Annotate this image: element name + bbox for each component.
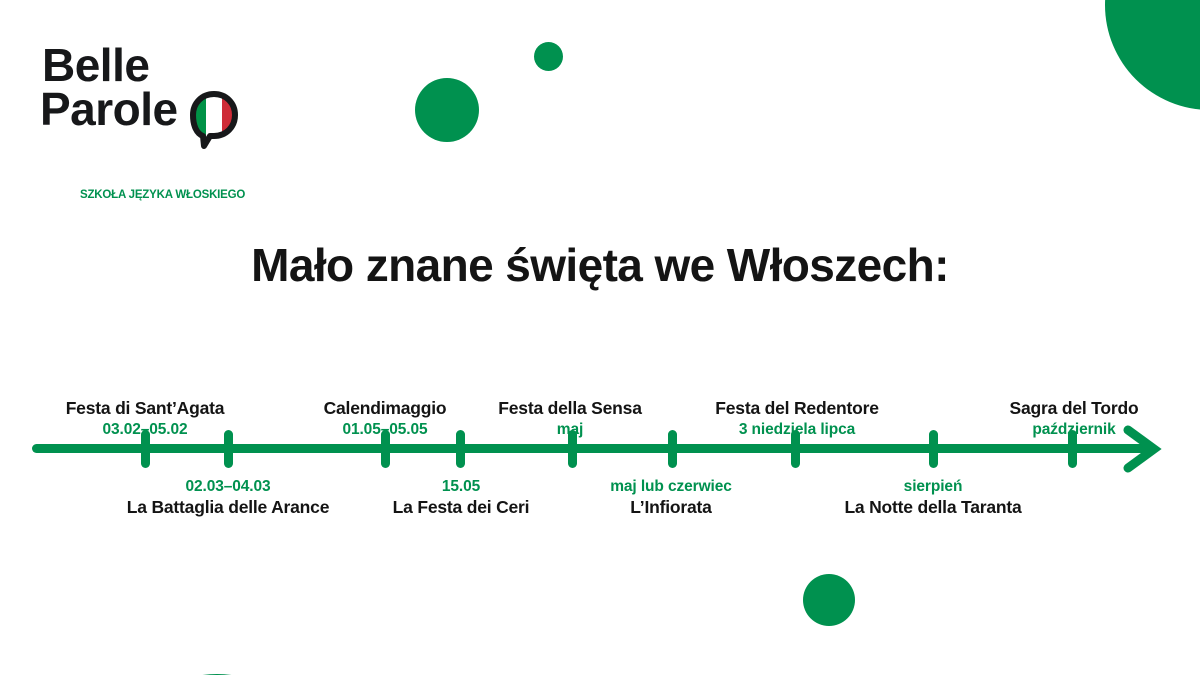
event-date: 03.02–05.02 bbox=[66, 420, 225, 440]
timeline-event: Festa del Redentore3 niedziela lipca bbox=[715, 398, 878, 440]
event-name: La Notte della Taranta bbox=[844, 497, 1021, 519]
dot-small bbox=[534, 42, 563, 71]
page-title: Mało znane święta we Włoszech: bbox=[0, 238, 1200, 292]
logo-word-parole: Parole bbox=[40, 88, 178, 132]
dot-large bbox=[415, 78, 479, 142]
timeline: Festa di Sant’Agata03.02–05.0202.03–04.0… bbox=[0, 360, 1200, 540]
event-name: Festa del Redentore bbox=[715, 398, 878, 420]
timeline-tick bbox=[929, 430, 938, 468]
logo-tagline: SZKOŁA JĘZYKA WŁOSKIEGO bbox=[80, 189, 245, 201]
event-date: 3 niedziela lipca bbox=[715, 420, 878, 440]
timeline-event: Calendimaggio01.05–05.05 bbox=[324, 398, 447, 440]
event-date: maj bbox=[498, 420, 641, 440]
timeline-axis-line bbox=[32, 444, 1150, 453]
brand-logo[interactable]: Belle Parole SZKOŁA JĘZYKA WŁOSKIEGO bbox=[40, 44, 210, 164]
timeline-tick bbox=[668, 430, 677, 468]
timeline-event: 02.03–04.03La Battaglia delle Arance bbox=[127, 477, 329, 519]
event-name: Calendimaggio bbox=[324, 398, 447, 420]
event-date: 02.03–04.03 bbox=[127, 477, 329, 497]
event-date: 15.05 bbox=[393, 477, 530, 497]
italian-flag-speech-bubble-icon bbox=[190, 91, 238, 149]
event-date: 01.05–05.05 bbox=[324, 420, 447, 440]
timeline-tick bbox=[224, 430, 233, 468]
dot-medium bbox=[803, 574, 855, 626]
event-date: sierpień bbox=[844, 477, 1021, 497]
event-date: październik bbox=[1010, 420, 1139, 440]
timeline-event: Festa della Sensamaj bbox=[498, 398, 641, 440]
timeline-event: Festa di Sant’Agata03.02–05.02 bbox=[66, 398, 225, 440]
logo-word-belle: Belle bbox=[42, 44, 149, 88]
timeline-tick bbox=[456, 430, 465, 468]
event-name: Sagra del Tordo bbox=[1010, 398, 1139, 420]
timeline-event: maj lub czerwiecL’Infiorata bbox=[610, 477, 732, 519]
event-name: Festa della Sensa bbox=[498, 398, 641, 420]
event-name: L’Infiorata bbox=[610, 497, 732, 519]
infographic-canvas: Belle Parole SZKOŁA JĘZYKA WŁOSKIEGO Mał… bbox=[0, 0, 1200, 675]
corner-circle-top-right bbox=[1105, 0, 1200, 110]
event-date: maj lub czerwiec bbox=[610, 477, 732, 497]
event-name: Festa di Sant’Agata bbox=[66, 398, 225, 420]
timeline-event: sierpieńLa Notte della Taranta bbox=[844, 477, 1021, 519]
timeline-event: Sagra del Tordopaździernik bbox=[1010, 398, 1139, 440]
event-name: La Battaglia delle Arance bbox=[127, 497, 329, 519]
timeline-event: 15.05La Festa dei Ceri bbox=[393, 477, 530, 519]
event-name: La Festa dei Ceri bbox=[393, 497, 530, 519]
